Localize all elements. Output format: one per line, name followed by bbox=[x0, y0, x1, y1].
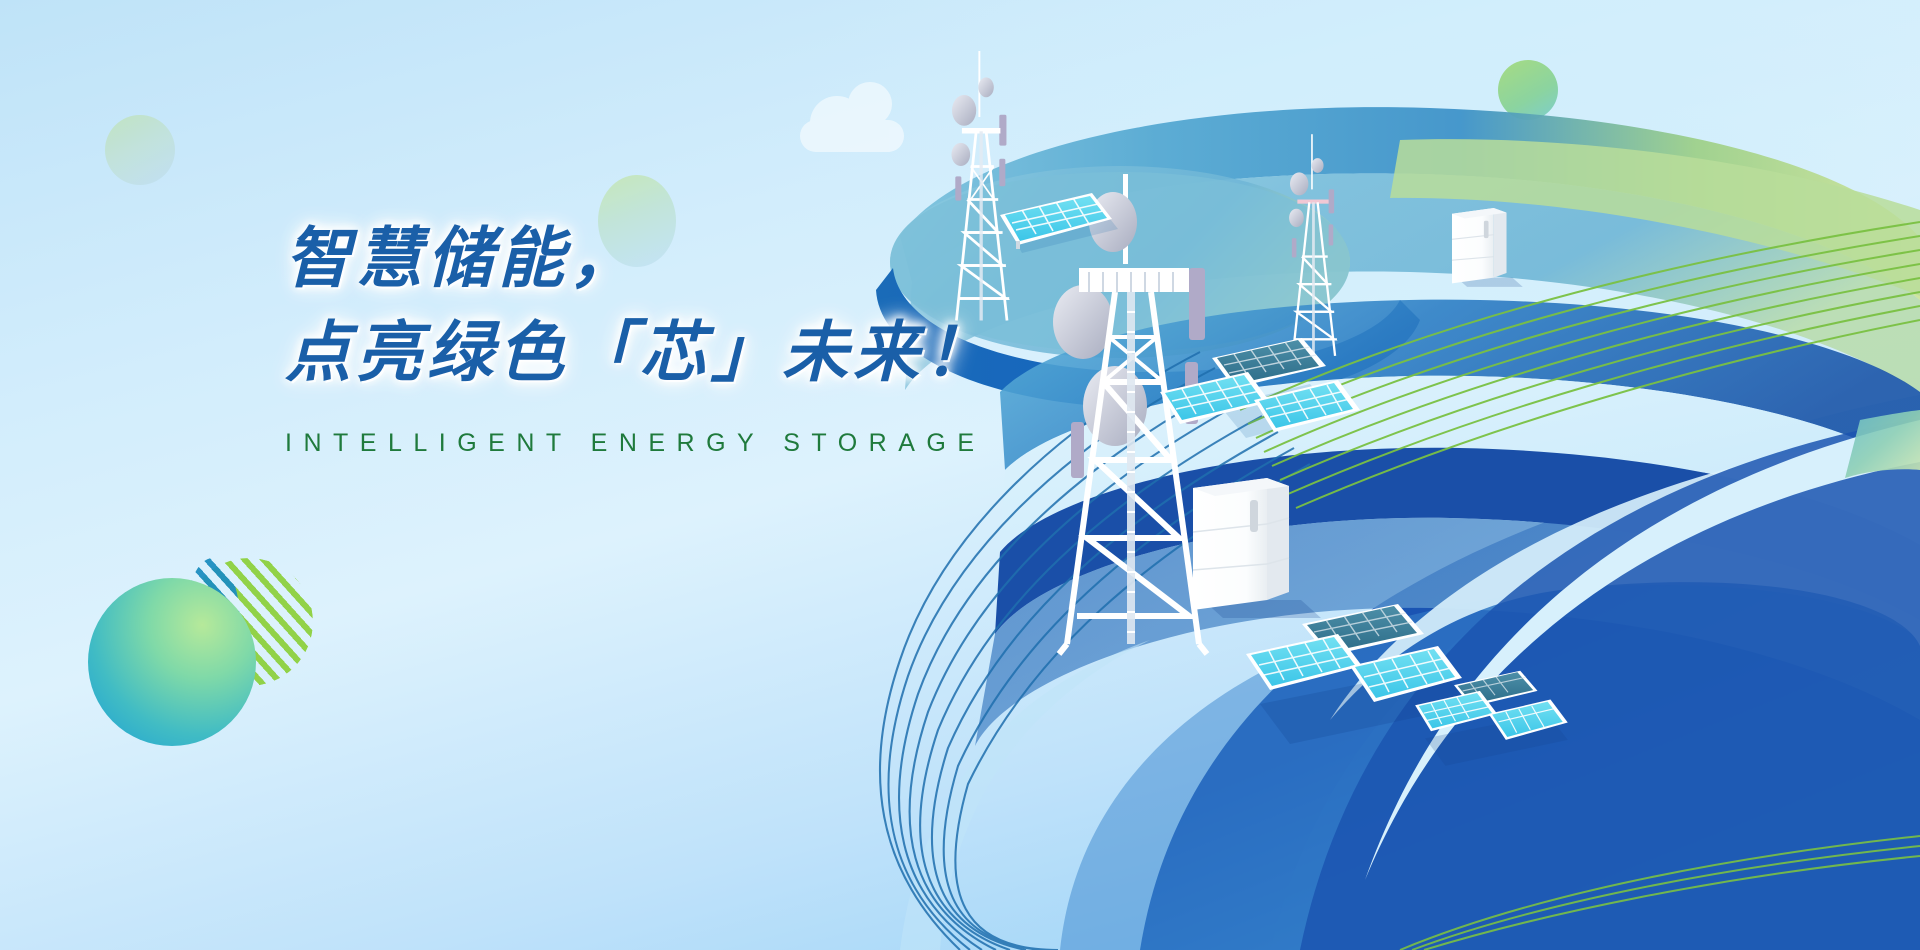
telecom-tower-back-right bbox=[1289, 134, 1337, 356]
page-title: 智慧储能， 点亮绿色「芯」未来！ bbox=[285, 215, 995, 397]
headline-line-2: 点亮绿色「芯」未来！ bbox=[285, 309, 995, 397]
hero-text-block: 智慧储能， 点亮绿色「芯」未来！ INTELLIGENT ENERGY STOR… bbox=[285, 215, 995, 458]
headline-line-1: 智慧储能， bbox=[285, 215, 995, 303]
hero-subtitle: INTELLIGENT ENERGY STORAGE bbox=[285, 429, 995, 458]
illustration-objects bbox=[0, 0, 1920, 950]
banner-hero: 智慧储能， 点亮绿色「芯」未来！ INTELLIGENT ENERGY STOR… bbox=[0, 0, 1920, 950]
energy-storage-cabinet-main bbox=[1193, 478, 1321, 618]
energy-storage-cabinet-right bbox=[1452, 208, 1523, 287]
